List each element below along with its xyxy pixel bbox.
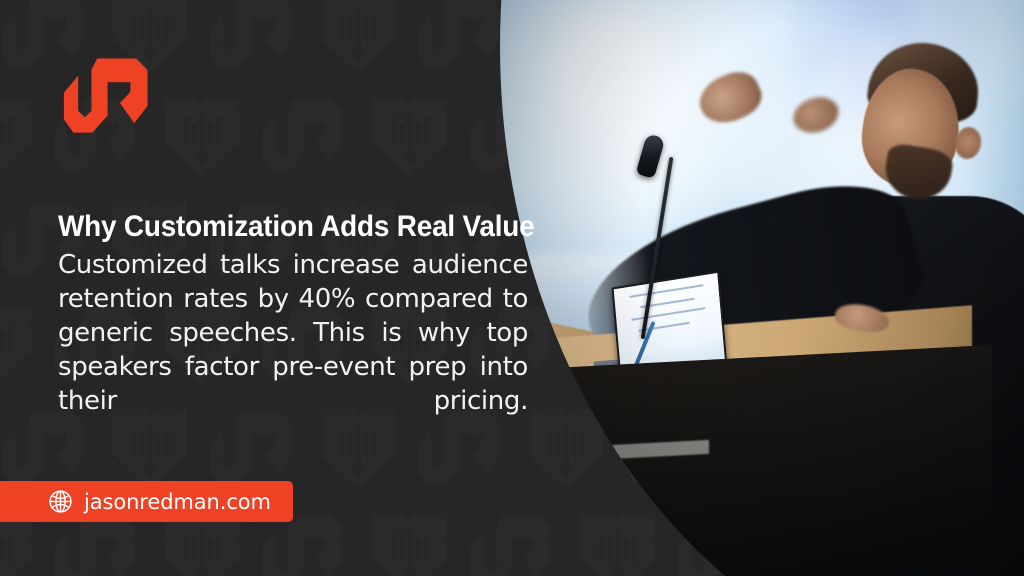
website-url-badge[interactable]: jasonredman.com	[0, 481, 293, 522]
watermark-tile-trident	[364, 506, 456, 576]
watermark-tile-jr	[208, 0, 300, 78]
website-url-text: jasonredman.com	[84, 490, 271, 514]
watermark-tile-trident	[156, 90, 248, 182]
watermark-tile-trident	[572, 506, 664, 576]
watermark-tile-trident	[0, 298, 40, 390]
page-title: Why Customization Adds Real Value	[58, 211, 495, 243]
globe-icon	[48, 489, 73, 514]
jr-monogram-logo	[62, 49, 157, 144]
speaker-photo	[500, 0, 1024, 576]
watermark-tile-jr	[416, 0, 508, 78]
watermark-tile-trident	[364, 90, 456, 182]
promo-card: Why Customization Adds Real Value Custom…	[0, 0, 1024, 576]
body-paragraph: Customized talks increase audience reten…	[58, 249, 528, 452]
watermark-tile-trident	[312, 0, 404, 78]
watermark-tile-trident	[0, 90, 40, 182]
watermark-tile-jr	[468, 506, 560, 576]
copy-block: Why Customization Adds Real Value Custom…	[58, 211, 528, 452]
watermark-tile-jr	[260, 90, 352, 182]
photo-vignette	[500, 0, 1024, 576]
